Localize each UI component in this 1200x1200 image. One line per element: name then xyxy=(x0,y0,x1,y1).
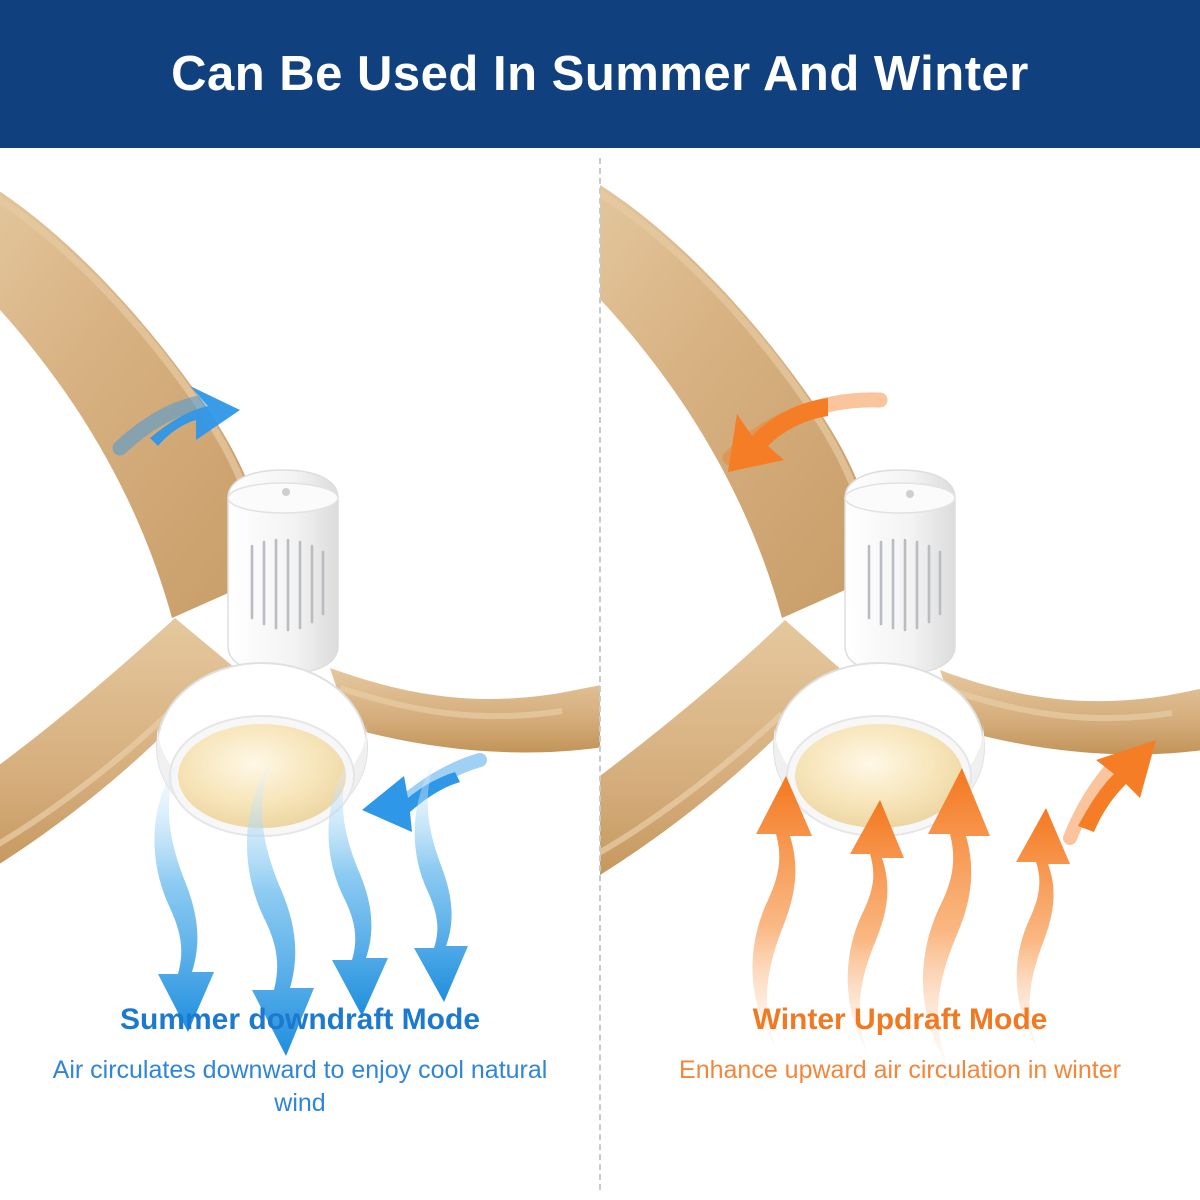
fan-motor-housing xyxy=(845,470,955,674)
panel-winter: Winter Updraft Mode Enhance upward air c… xyxy=(600,148,1200,1200)
page-title: Can Be Used In Summer And Winter xyxy=(171,50,1029,99)
summer-mode-title: Summer downdraft Mode xyxy=(0,1003,600,1036)
winter-caption: Winter Updraft Mode Enhance upward air c… xyxy=(600,1003,1200,1087)
fan-blade-upper-left xyxy=(0,168,264,618)
summer-caption: Summer downdraft Mode Air circulates dow… xyxy=(0,1003,600,1121)
summer-mode-description: Air circulates downward to enjoy cool na… xyxy=(0,1054,600,1121)
fan-motor-housing xyxy=(228,470,338,674)
winter-mode-title: Winter Updraft Mode xyxy=(600,1003,1200,1036)
header-banner: Can Be Used In Summer And Winter xyxy=(0,0,1200,148)
airflow-arrow-4 xyxy=(414,758,468,1002)
promo-image: Can Be Used In Summer And Winter xyxy=(0,0,1200,1200)
winter-mode-description: Enhance upward air circulation in winter xyxy=(600,1054,1200,1087)
fan-blade-upper-left xyxy=(600,168,874,618)
panel-divider xyxy=(599,158,601,1190)
panels-container: Summer downdraft Mode Air circulates dow… xyxy=(0,148,1200,1200)
panel-summer: Summer downdraft Mode Air circulates dow… xyxy=(0,148,600,1200)
side-updraft-arrow-winter xyxy=(1070,740,1156,838)
airflow-arrow-3 xyxy=(328,756,388,1016)
